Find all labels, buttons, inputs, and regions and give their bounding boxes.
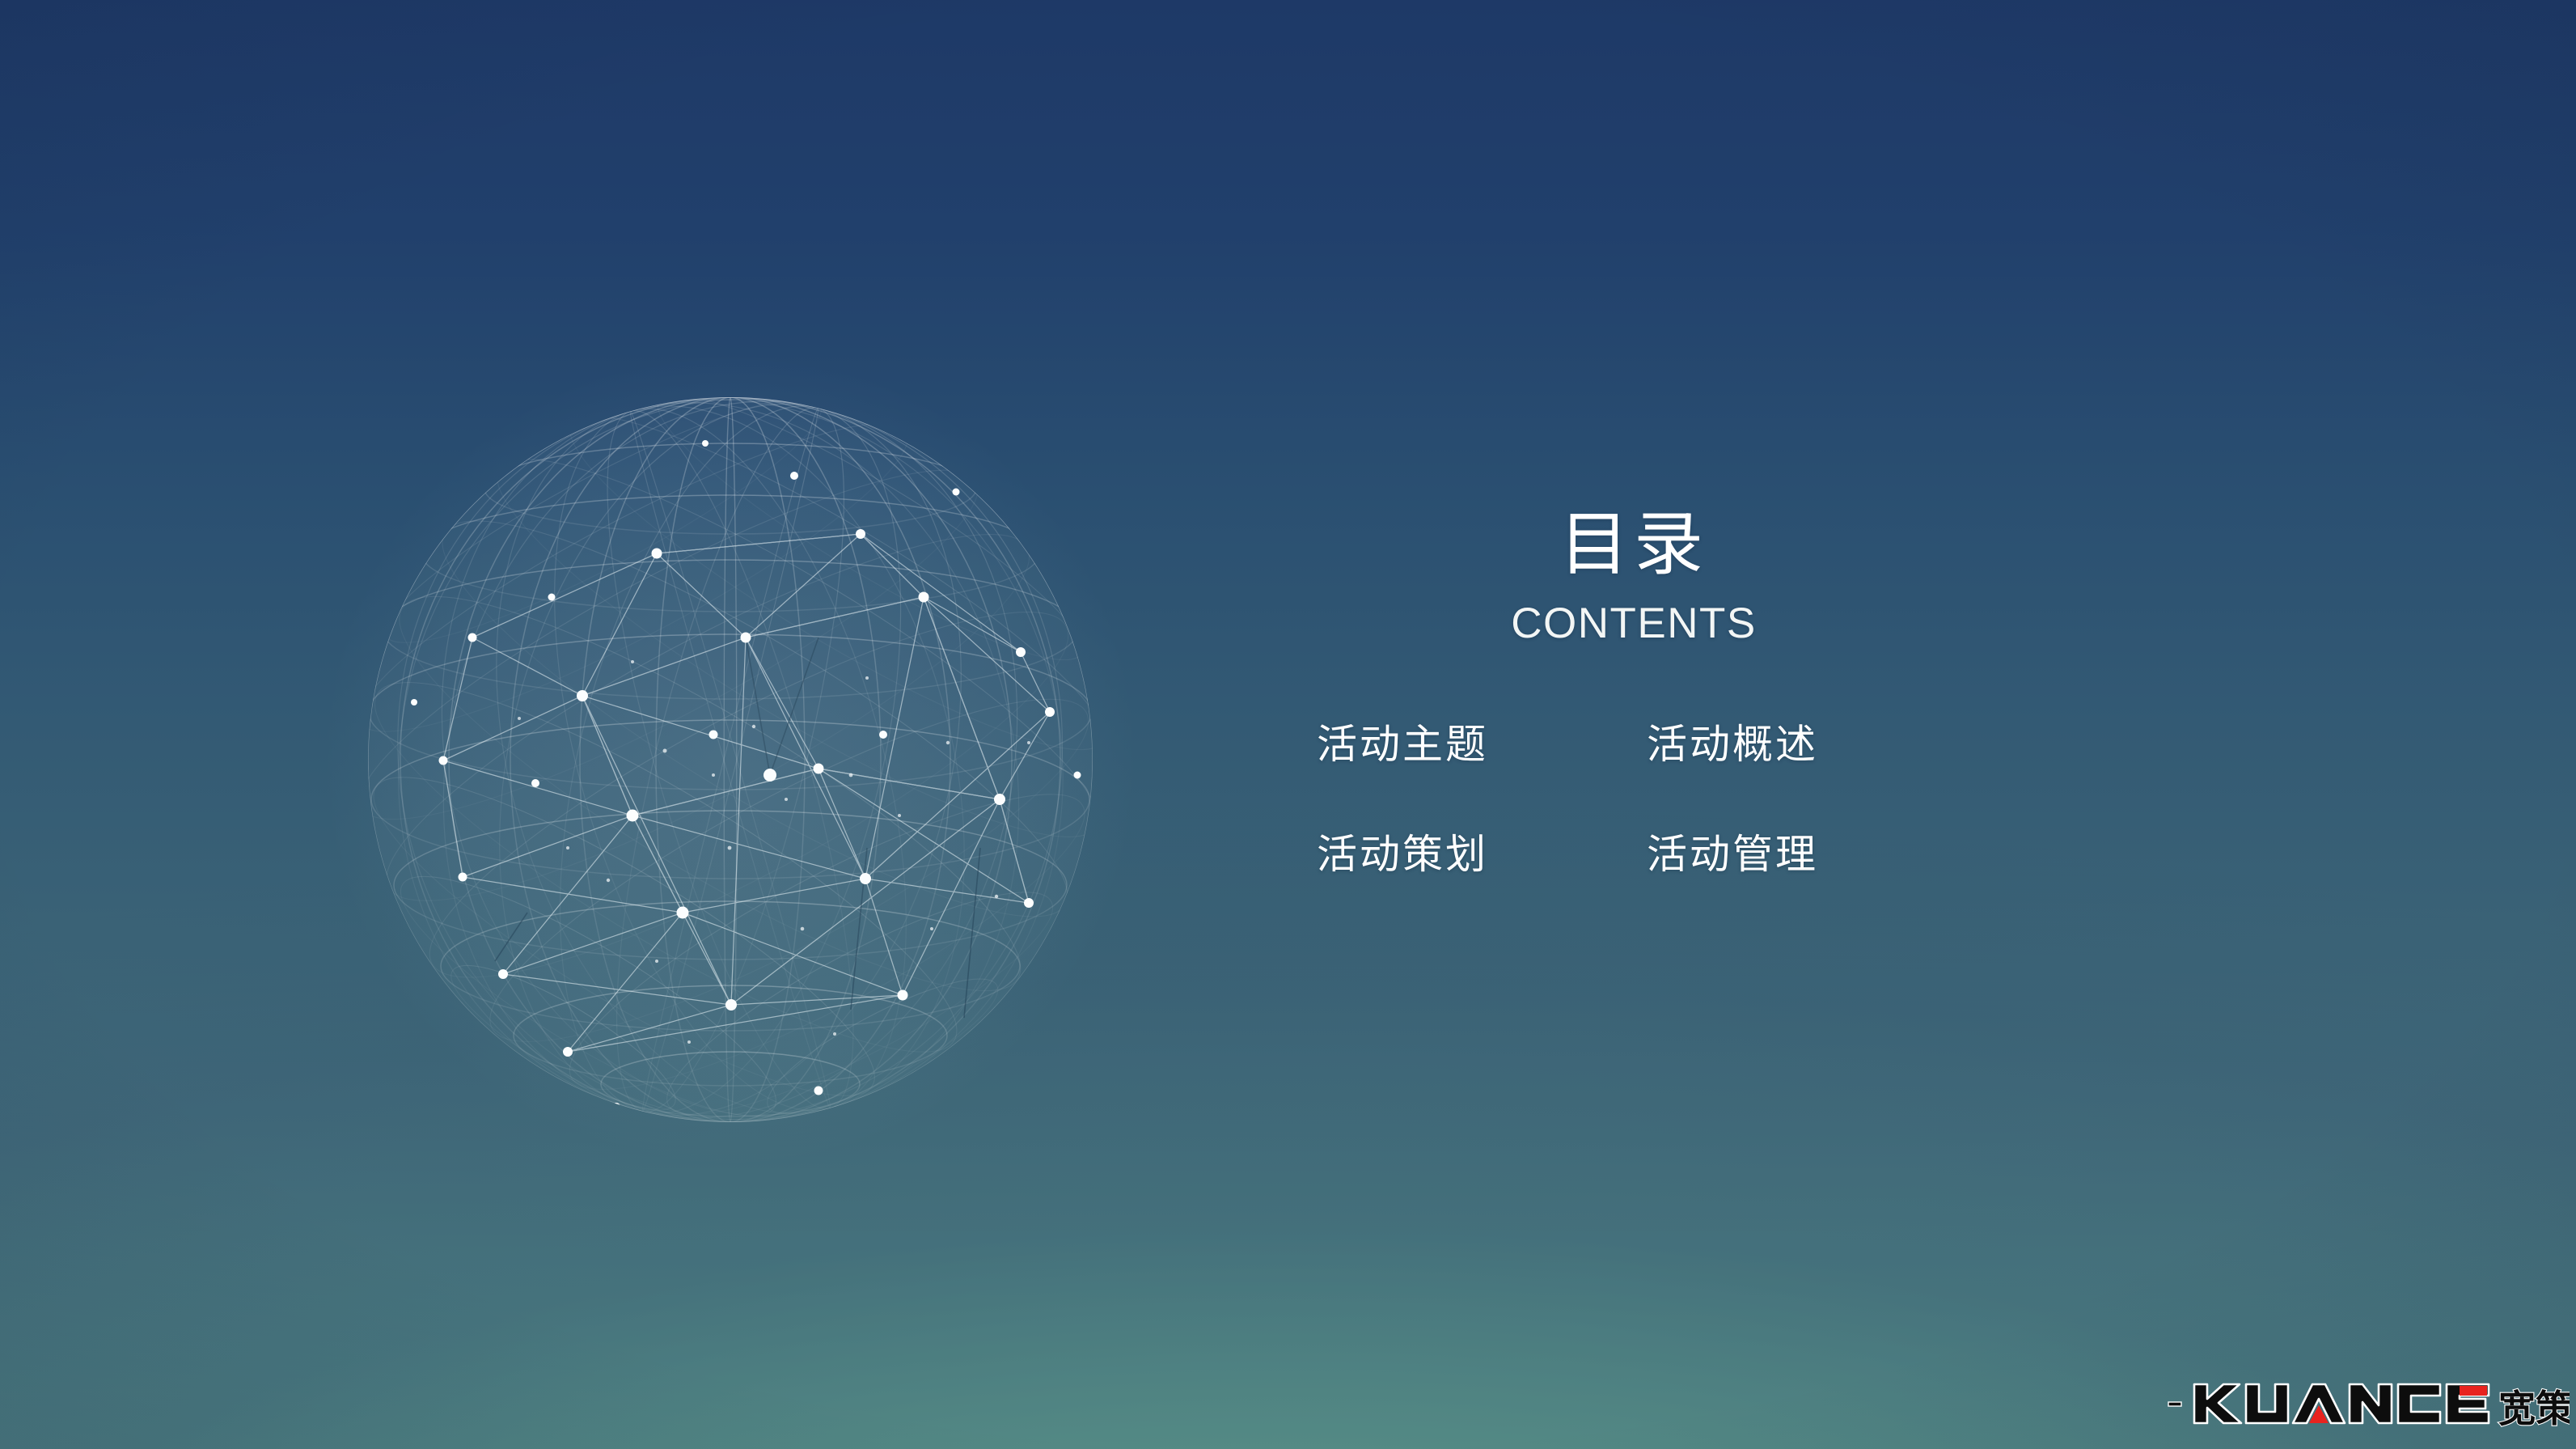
contents-item-1[interactable]: 活动主题 <box>1317 722 1647 766</box>
contents-block: 目录 CONTENTS 活动主题 活动概述 活动策划 活动管理 <box>1262 510 2054 876</box>
presentation-slide: 目录 CONTENTS 活动主题 活动概述 活动策划 活动管理 <box>0 0 2576 1449</box>
kuance-logo-svg: 宽策展览 ® <box>2165 1365 2570 1434</box>
logo-accent-bar <box>2460 1386 2487 1396</box>
contents-menu: 活动主题 活动概述 活动策划 活动管理 <box>1262 722 2054 876</box>
globe-svg <box>366 395 1095 1125</box>
logo-wordmark-cn: 宽策展览 <box>2498 1387 2570 1430</box>
brand-logo: 宽策展览 ® <box>2165 1365 2570 1434</box>
contents-item-2[interactable]: 活动概述 <box>1647 722 1977 766</box>
network-globe-graphic <box>366 395 1095 1125</box>
logo-dash <box>2168 1402 2181 1406</box>
page-subtitle: CONTENTS <box>1262 602 2006 645</box>
contents-item-3[interactable]: 活动策划 <box>1317 833 1647 876</box>
logo-wordmark-kuance <box>2194 1384 2489 1423</box>
page-title: 目录 <box>1262 510 2006 579</box>
contents-item-4[interactable]: 活动管理 <box>1647 833 1977 876</box>
